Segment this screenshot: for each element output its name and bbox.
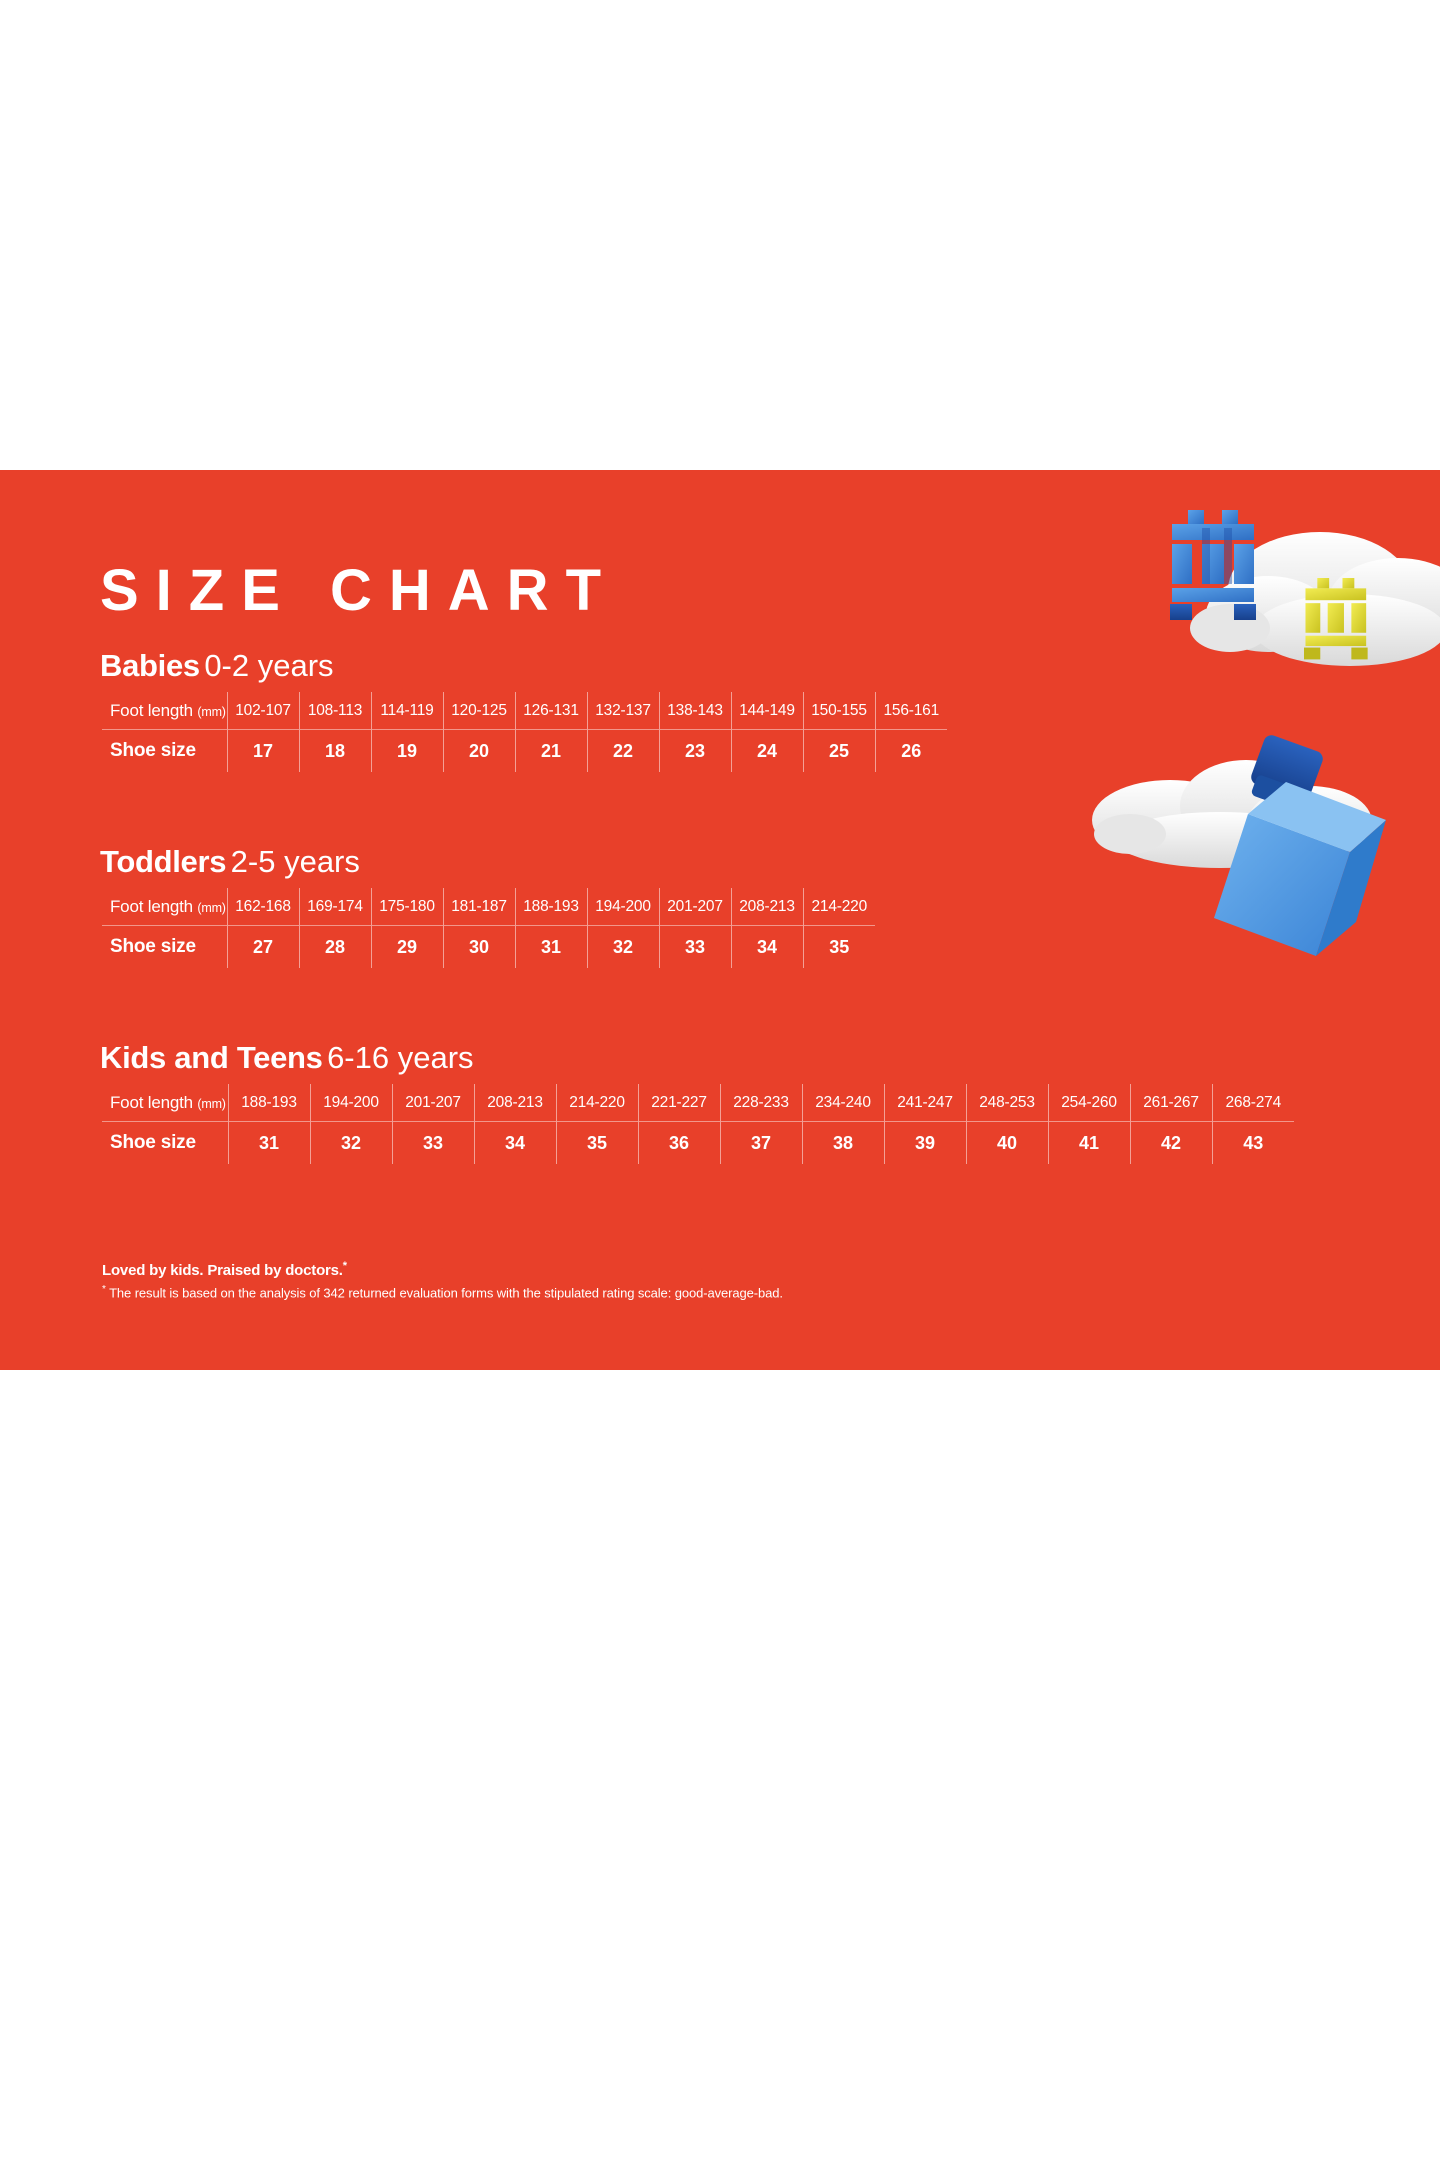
cell-shoe-size: 43 (1212, 1122, 1294, 1165)
cell-foot-length: 214-220 (803, 888, 875, 926)
cell-foot-length: 201-207 (392, 1084, 474, 1122)
cell-foot-length: 208-213 (731, 888, 803, 926)
table-row: Foot length (mm) 188-193 194-200 201-207… (102, 1084, 1294, 1122)
cell-shoe-size: 25 (803, 730, 875, 773)
cell-foot-length: 169-174 (299, 888, 371, 926)
cell-foot-length: 102-107 (227, 692, 299, 730)
cell-foot-length: 188-193 (515, 888, 587, 926)
cell-foot-length: 150-155 (803, 692, 875, 730)
cell-shoe-size: 29 (371, 926, 443, 969)
cell-shoe-size: 24 (731, 730, 803, 773)
cell-shoe-size: 35 (803, 926, 875, 969)
cell-shoe-size: 19 (371, 730, 443, 773)
cell-foot-length: 144-149 (731, 692, 803, 730)
cell-foot-length: 132-137 (587, 692, 659, 730)
section-name-kids-and-teens: Kids and Teens (100, 1040, 323, 1075)
table-row: Foot length (mm) 162-168 169-174 175-180… (102, 888, 875, 926)
cell-shoe-size: 22 (587, 730, 659, 773)
cell-foot-length: 228-233 (720, 1084, 802, 1122)
cell-shoe-size: 36 (638, 1122, 720, 1165)
cell-shoe-size: 42 (1130, 1122, 1212, 1165)
cell-shoe-size: 33 (659, 926, 731, 969)
cell-shoe-size: 28 (299, 926, 371, 969)
cell-shoe-size: 38 (802, 1122, 884, 1165)
cell-shoe-size: 31 (515, 926, 587, 969)
cell-shoe-size: 17 (227, 730, 299, 773)
row-label-unit: (mm) (197, 705, 225, 719)
table-kids-and-teens: Foot length (mm) 188-193 194-200 201-207… (102, 1084, 1294, 1164)
size-chart-banner: SIZE CHART Babies 0-2 years Foot length … (0, 470, 1440, 1370)
cell-shoe-size: 37 (720, 1122, 802, 1165)
cell-foot-length: 126-131 (515, 692, 587, 730)
cell-shoe-size: 23 (659, 730, 731, 773)
cell-shoe-size: 41 (1048, 1122, 1130, 1165)
cell-foot-length: 156-161 (875, 692, 947, 730)
section-heading-kids-and-teens: Kids and Teens 6-16 years (100, 1042, 474, 1073)
cell-shoe-size: 18 (299, 730, 371, 773)
cell-foot-length: 234-240 (802, 1084, 884, 1122)
cell-shoe-size: 33 (392, 1122, 474, 1165)
cell-shoe-size: 32 (587, 926, 659, 969)
cell-shoe-size: 40 (966, 1122, 1048, 1165)
row-label-unit: (mm) (197, 1097, 225, 1111)
cell-foot-length: 194-200 (310, 1084, 392, 1122)
footer-tagline: Loved by kids. Praised by doctors.* (102, 1260, 347, 1279)
section-age-toddlers: 2-5 years (231, 844, 360, 879)
cell-foot-length: 221-227 (638, 1084, 720, 1122)
table-toddlers: Foot length (mm) 162-168 169-174 175-180… (102, 888, 875, 968)
cell-foot-length: 138-143 (659, 692, 731, 730)
cell-foot-length: 120-125 (443, 692, 515, 730)
cell-foot-length: 181-187 (443, 888, 515, 926)
cell-foot-length: 114-119 (371, 692, 443, 730)
row-label-foot-length: Foot length (mm) (102, 692, 227, 730)
cell-foot-length: 108-113 (299, 692, 371, 730)
cell-foot-length: 208-213 (474, 1084, 556, 1122)
table-babies: Foot length (mm) 102-107 108-113 114-119… (102, 692, 947, 772)
cell-shoe-size: 32 (310, 1122, 392, 1165)
cell-foot-length: 214-220 (556, 1084, 638, 1122)
row-label-shoe-size: Shoe size (102, 926, 227, 969)
cell-shoe-size: 30 (443, 926, 515, 969)
table-row: Shoe size 27 28 29 30 31 32 33 34 35 (102, 926, 875, 969)
footer-disclaimer-asterisk: * (102, 1284, 106, 1295)
row-label-shoe-size: Shoe size (102, 1122, 228, 1165)
cell-foot-length: 248-253 (966, 1084, 1048, 1122)
cell-foot-length: 254-260 (1048, 1084, 1130, 1122)
banner-content: SIZE CHART Babies 0-2 years Foot length … (100, 470, 1340, 1370)
cell-shoe-size: 21 (515, 730, 587, 773)
section-age-babies: 0-2 years (204, 648, 333, 683)
row-label-unit: (mm) (197, 901, 225, 915)
cell-foot-length: 175-180 (371, 888, 443, 926)
table-row: Foot length (mm) 102-107 108-113 114-119… (102, 692, 947, 730)
section-heading-toddlers: Toddlers 2-5 years (100, 846, 360, 877)
cell-shoe-size: 20 (443, 730, 515, 773)
row-label-text: Foot length (110, 701, 193, 720)
footer-tagline-asterisk: * (343, 1260, 347, 1272)
cell-foot-length: 241-247 (884, 1084, 966, 1122)
section-name-babies: Babies (100, 648, 200, 683)
footer-disclaimer-text: The result is based on the analysis of 3… (109, 1285, 783, 1300)
cell-shoe-size: 35 (556, 1122, 638, 1165)
footer-tagline-text: Loved by kids. Praised by doctors. (102, 1262, 343, 1279)
cell-foot-length: 188-193 (228, 1084, 310, 1122)
section-age-kids-and-teens: 6-16 years (327, 1040, 473, 1075)
cell-shoe-size: 27 (227, 926, 299, 969)
cell-shoe-size: 34 (474, 1122, 556, 1165)
table-row: Shoe size 17 18 19 20 21 22 23 24 25 26 (102, 730, 947, 773)
row-label-text: Foot length (110, 897, 193, 916)
section-name-toddlers: Toddlers (100, 844, 226, 879)
cell-foot-length: 261-267 (1130, 1084, 1212, 1122)
cell-shoe-size: 26 (875, 730, 947, 773)
cell-foot-length: 162-168 (227, 888, 299, 926)
cell-shoe-size: 39 (884, 1122, 966, 1165)
page-title: SIZE CHART (100, 562, 618, 620)
row-label-shoe-size: Shoe size (102, 730, 227, 773)
cell-foot-length: 194-200 (587, 888, 659, 926)
cell-foot-length: 201-207 (659, 888, 731, 926)
row-label-foot-length: Foot length (mm) (102, 888, 227, 926)
cell-shoe-size: 31 (228, 1122, 310, 1165)
cell-shoe-size: 34 (731, 926, 803, 969)
section-heading-babies: Babies 0-2 years (100, 650, 334, 681)
row-label-text: Foot length (110, 1093, 193, 1112)
cell-foot-length: 268-274 (1212, 1084, 1294, 1122)
footer-disclaimer: * The result is based on the analysis of… (102, 1284, 783, 1300)
row-label-foot-length: Foot length (mm) (102, 1084, 228, 1122)
table-row: Shoe size 31 32 33 34 35 36 37 38 39 40 … (102, 1122, 1294, 1165)
